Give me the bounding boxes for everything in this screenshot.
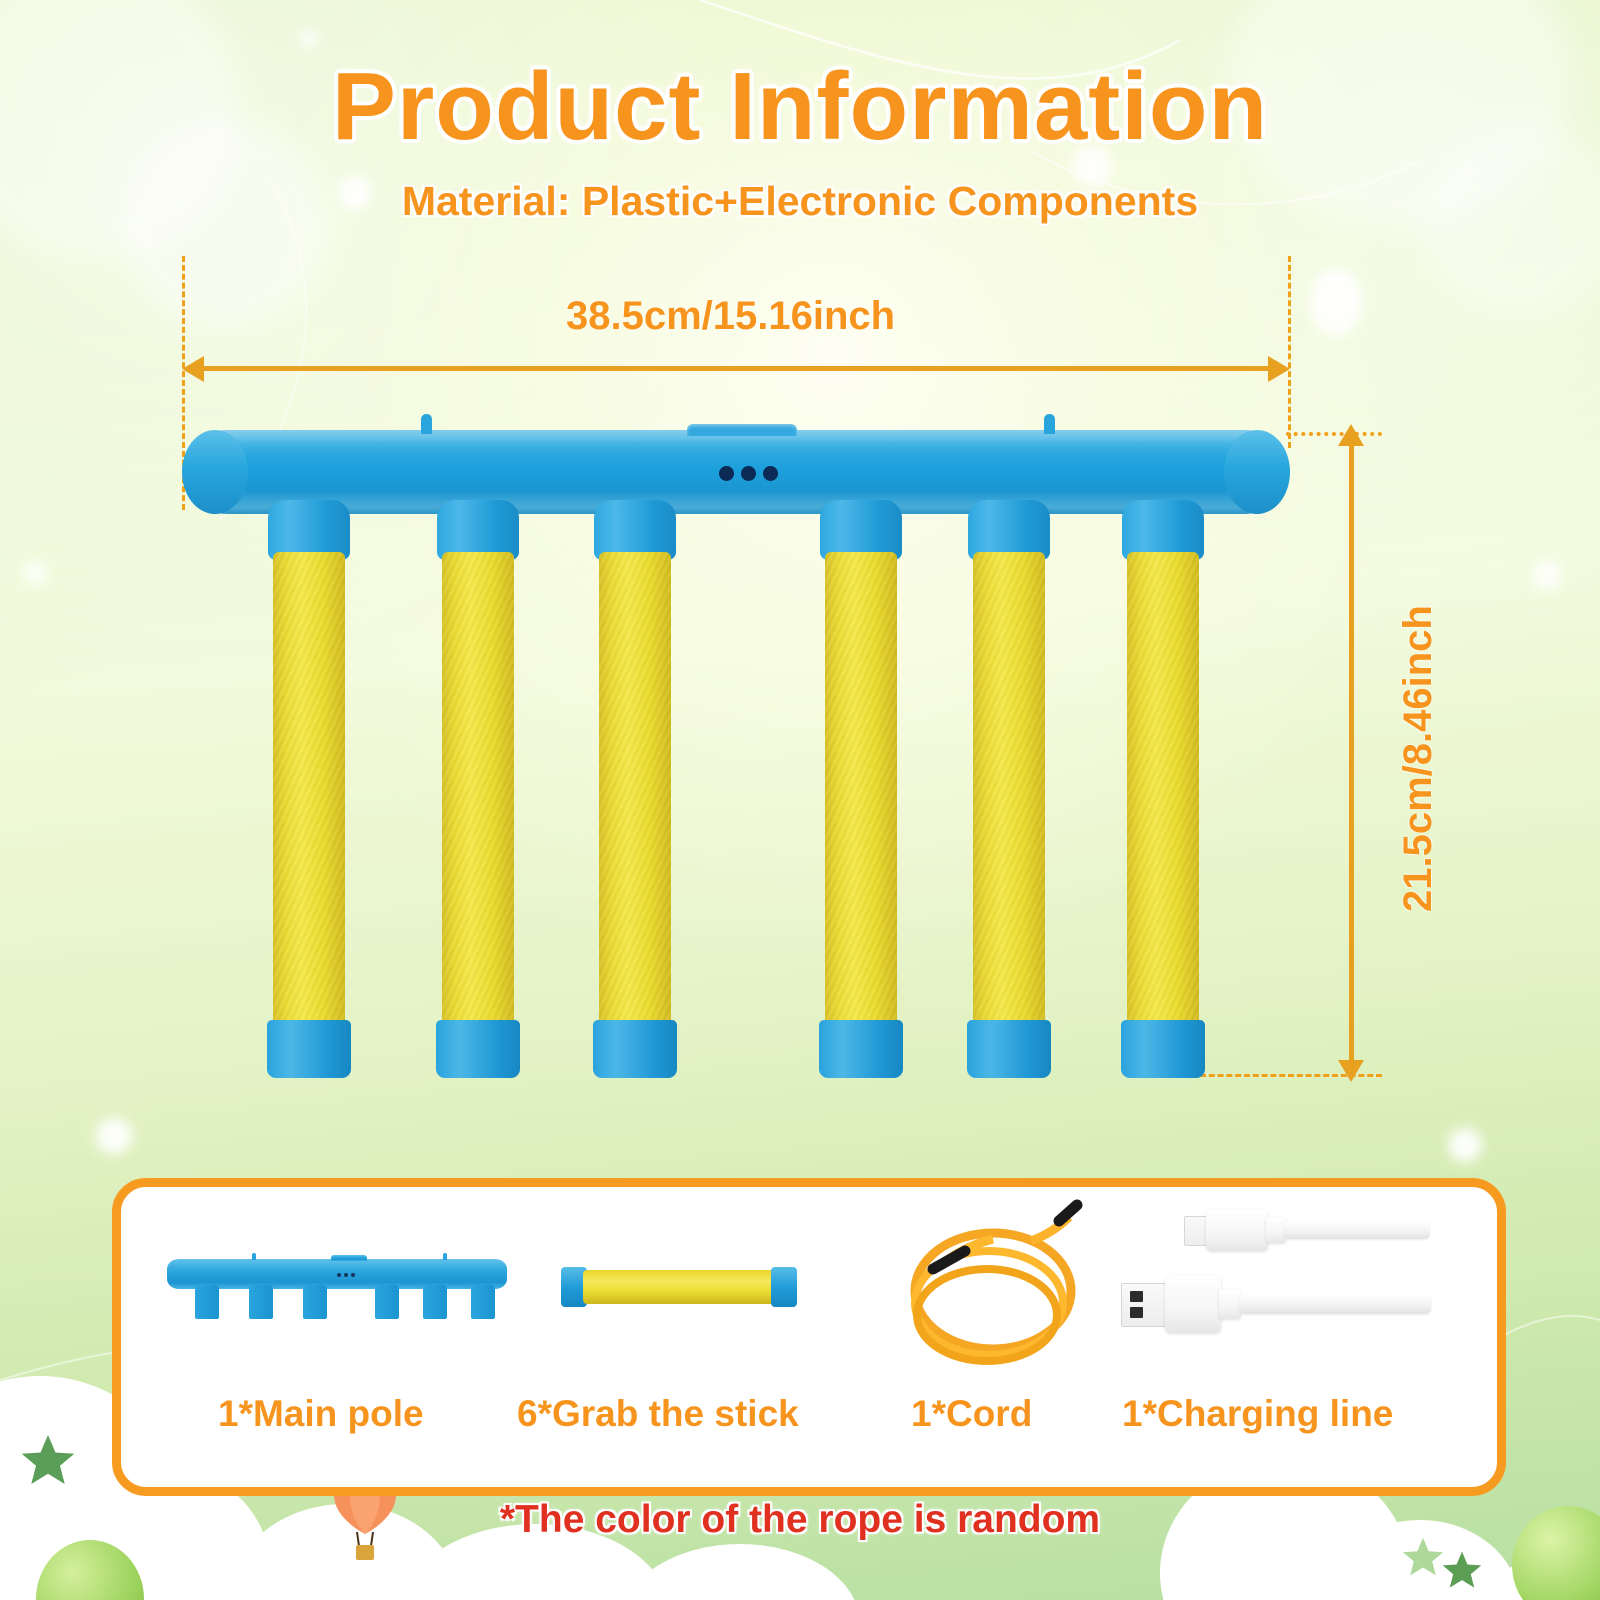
pole-stub: [968, 500, 1050, 560]
pole-stub: [594, 500, 676, 560]
mini-stub: [249, 1285, 273, 1319]
width-dimension-line: [196, 366, 1282, 371]
grab-stick-icon-tube: [583, 1270, 775, 1304]
indicator-dot: [719, 466, 734, 481]
micro-usb-strain-relief: [1266, 1217, 1286, 1243]
grab-stick-tube: [273, 552, 345, 1032]
grab-stick-foot-cap: [1121, 1020, 1205, 1078]
charging-cable-top: [1284, 1221, 1430, 1239]
part-label: 1*Cord: [911, 1393, 1032, 1435]
mini-tab-icon: [252, 1253, 256, 1260]
star-icon: [18, 1430, 78, 1490]
part-label: 6*Grab the stick: [517, 1393, 799, 1435]
usb-a-strain-relief: [1219, 1289, 1241, 1319]
guide-dashed-left: [182, 256, 185, 510]
bokeh-circle: [1448, 1128, 1482, 1162]
mini-stub: [471, 1285, 495, 1319]
width-arrow-right-icon: [1268, 356, 1290, 382]
mini-indicator-dot: [337, 1273, 341, 1277]
page-title: Product Information: [0, 52, 1600, 162]
mini-indicator-dot: [344, 1273, 348, 1277]
mini-stub: [423, 1285, 447, 1319]
grab-stick-tube: [973, 552, 1045, 1032]
grab-stick-tube: [442, 552, 514, 1032]
pole-top-panel: [687, 424, 797, 436]
bokeh-circle: [22, 560, 48, 586]
width-dimension-label: 38.5cm/15.16inch: [566, 294, 895, 339]
usb-a-slot: [1130, 1307, 1143, 1318]
guide-dotted-top: [1286, 432, 1382, 436]
height-arrow-down-icon: [1338, 1060, 1364, 1082]
guide-dashed-right: [1288, 256, 1291, 448]
footer-note: *The color of the rope is random: [0, 1498, 1600, 1542]
part-label: 1*Main pole: [218, 1393, 424, 1435]
micro-usb-body-icon: [1206, 1209, 1268, 1251]
mini-stub: [195, 1285, 219, 1319]
width-arrow-left-icon: [182, 356, 204, 382]
grab-stick-foot-cap: [436, 1020, 520, 1078]
main-pole-left-cap: [182, 430, 248, 514]
grab-stick-tube: [1127, 552, 1199, 1032]
cord-icon: [881, 1199, 1111, 1369]
height-dimension-label: 21.5cm/8.46inch: [1396, 605, 1441, 912]
main-pole-right-cap: [1224, 430, 1290, 514]
grab-stick-foot-cap: [267, 1020, 351, 1078]
part-label: 1*Charging line: [1122, 1393, 1393, 1435]
pole-stub: [437, 500, 519, 560]
bokeh-circle: [1532, 560, 1562, 590]
height-arrow-up-icon: [1338, 424, 1364, 446]
pole-tab: [1044, 414, 1055, 434]
bokeh-circle: [300, 30, 318, 48]
mini-stub: [375, 1285, 399, 1319]
pole-stub: [1122, 500, 1204, 560]
usb-a-body-icon: [1165, 1275, 1221, 1333]
grab-stick-foot-cap: [819, 1020, 903, 1078]
parts-panel: 1*Main pole 6*Grab the stick 1*Cord: [112, 1178, 1506, 1496]
charging-cable-bottom: [1239, 1294, 1431, 1314]
grab-stick-icon-cap-right: [771, 1267, 797, 1307]
mini-tab-icon: [443, 1253, 447, 1260]
mini-indicator-dot: [351, 1273, 355, 1277]
mini-top-panel: [331, 1255, 367, 1261]
height-dimension-line: [1349, 444, 1354, 1062]
cloud-shape: [620, 1544, 860, 1600]
main-pole-bar: [184, 430, 1288, 514]
pole-stub: [268, 500, 350, 560]
indicator-dot: [763, 466, 778, 481]
bokeh-circle: [1310, 268, 1362, 336]
usb-a-tip-icon: [1121, 1283, 1169, 1327]
product-information-page: Product Information Material: Plastic+El…: [0, 0, 1600, 1600]
grab-stick-tube: [825, 552, 897, 1032]
grab-stick-foot-cap: [593, 1020, 677, 1078]
grab-stick-tube: [599, 552, 671, 1032]
pole-stub: [820, 500, 902, 560]
bokeh-circle: [96, 1118, 132, 1154]
page-subtitle: Material: Plastic+Electronic Components: [0, 178, 1600, 225]
usb-a-slot: [1130, 1291, 1143, 1302]
indicator-dot: [741, 466, 756, 481]
grab-stick-foot-cap: [967, 1020, 1051, 1078]
pole-tab: [421, 414, 432, 434]
star-icon: [1440, 1548, 1484, 1592]
mini-stub: [303, 1285, 327, 1319]
